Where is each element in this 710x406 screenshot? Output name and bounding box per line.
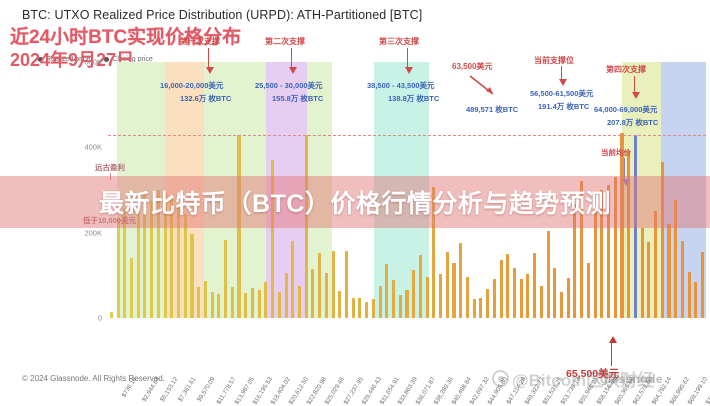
- bar: [291, 241, 294, 318]
- bar: [567, 278, 570, 318]
- bar: [513, 268, 516, 318]
- annotation-support-2-arrow-icon: [291, 48, 292, 68]
- bar: [641, 228, 644, 318]
- bar: [224, 240, 227, 318]
- bar: [264, 282, 267, 318]
- bar: [667, 224, 670, 318]
- bar: [688, 272, 691, 318]
- annotation-support-current-head: 当前支撑位: [534, 55, 574, 66]
- bar: [412, 270, 415, 318]
- label-65500-arrow-icon: [611, 342, 612, 366]
- bar: [251, 288, 254, 318]
- annotation-support-1-head: 第一次支撑: [180, 36, 220, 47]
- bar: [385, 264, 388, 318]
- bar: [365, 302, 368, 318]
- bar: [547, 231, 550, 318]
- callout-63500-arrow-icon: [468, 74, 502, 102]
- y-axis-tick: 400K: [84, 143, 102, 152]
- bar: [533, 253, 536, 318]
- callout-price-63500: 63,500美元: [452, 61, 492, 72]
- bar: [379, 286, 382, 318]
- annotation-support-2-head: 第二次支撑: [265, 36, 305, 47]
- bar: [197, 287, 200, 318]
- annotation-support-3-amount: 138.8万 枚BTC: [388, 93, 439, 104]
- annotation-support-3-arrow-icon: [407, 48, 408, 68]
- annotation-support-1-arrow-icon: [208, 48, 209, 68]
- bar: [493, 279, 496, 318]
- page-title: BTC: UTXO Realized Price Distribution (U…: [22, 8, 422, 22]
- glassnode-watermark: glassnode: [600, 372, 663, 386]
- bar: [587, 263, 590, 318]
- annotation-support-4-range: 64,000-69,000美元: [594, 104, 657, 115]
- bar: [190, 234, 193, 318]
- bar: [473, 299, 476, 318]
- annotation-support-4-amount: 207.8万 枚BTC: [607, 117, 658, 128]
- bar: [358, 298, 361, 318]
- bar: [311, 269, 314, 318]
- bar: [278, 292, 281, 318]
- bar: [217, 294, 220, 318]
- bar: [466, 277, 469, 318]
- bar: [526, 274, 529, 318]
- callout-ancient-profit: 远古盈利: [95, 162, 125, 173]
- bar: [540, 286, 543, 318]
- annotation-support-1-range: 16,000-20,000美元: [160, 80, 223, 91]
- y-axis-tick: 200K: [84, 228, 102, 237]
- closing-price-line: [108, 135, 706, 136]
- bar: [244, 293, 247, 318]
- annotation-support-current-amount: 191.4万 枚BTC: [538, 101, 589, 112]
- bar: [419, 255, 422, 318]
- bar: [332, 251, 335, 318]
- bar: [338, 291, 341, 318]
- bar: [647, 242, 650, 318]
- bar: [560, 292, 563, 318]
- bar: [117, 219, 120, 318]
- annotation-support-2-amount: 155.8万 枚BTC: [272, 93, 323, 104]
- bar: [459, 243, 462, 318]
- bar: [452, 263, 455, 318]
- bar: [298, 286, 301, 318]
- annotation-support-2-range: 25,500 - 30,000美元: [255, 80, 323, 91]
- bar: [399, 295, 402, 318]
- bar: [352, 298, 355, 318]
- bar: [345, 251, 348, 318]
- bar: [258, 290, 261, 318]
- annotation-support-1-amount: 132.6万 枚BTC: [180, 93, 231, 104]
- bar: [701, 252, 704, 318]
- annotation-support-4-head: 第四次支撑: [606, 64, 646, 75]
- bar: [231, 287, 234, 318]
- weibo-logo-icon: [492, 370, 509, 387]
- bar: [392, 280, 395, 318]
- bar: [446, 252, 449, 318]
- annotation-support-3-range: 38,500 - 43,500美元: [367, 80, 435, 91]
- bar: [130, 258, 133, 318]
- bar: [681, 241, 684, 318]
- bar: [439, 274, 442, 318]
- callout-current-avg-label: 当前均价: [601, 147, 631, 158]
- annotation-support-current-arrow-icon: [561, 66, 562, 80]
- bar: [520, 279, 523, 318]
- bar: [486, 289, 489, 318]
- bar: [204, 281, 207, 318]
- y-axis-tick: 0: [98, 314, 102, 323]
- overlay-banner-text: 最新比特币（BTC）价格行情分析与趋势预测: [0, 176, 710, 228]
- chart-screenshot: BTC: UTXO Realized Price Distribution (U…: [0, 0, 710, 400]
- y-axis-tick: 600K: [84, 58, 102, 67]
- bar: [318, 253, 321, 318]
- callout-btc-489571: 489,571 枚BTC: [466, 104, 518, 115]
- x-axis-tick-label: $9,570.09: [195, 376, 216, 403]
- bar: [325, 273, 328, 318]
- annotation-support-3-head: 第三次支撑: [379, 36, 419, 47]
- bar: [694, 282, 697, 318]
- bar: [553, 268, 556, 318]
- bar: [426, 277, 429, 318]
- annotation-support-current-range: 56,500-61,500美元: [530, 88, 593, 99]
- bar: [405, 290, 408, 318]
- bar: [500, 260, 503, 318]
- copyright-text: © 2024 Glassnode. All Rights Reserved.: [22, 374, 165, 383]
- annotation-support-4-arrow-icon: [634, 76, 635, 93]
- bar: [506, 254, 509, 318]
- bar: [211, 292, 214, 318]
- bar: [479, 298, 482, 318]
- bar: [372, 299, 375, 318]
- bar: [184, 214, 187, 318]
- bar: [285, 273, 288, 318]
